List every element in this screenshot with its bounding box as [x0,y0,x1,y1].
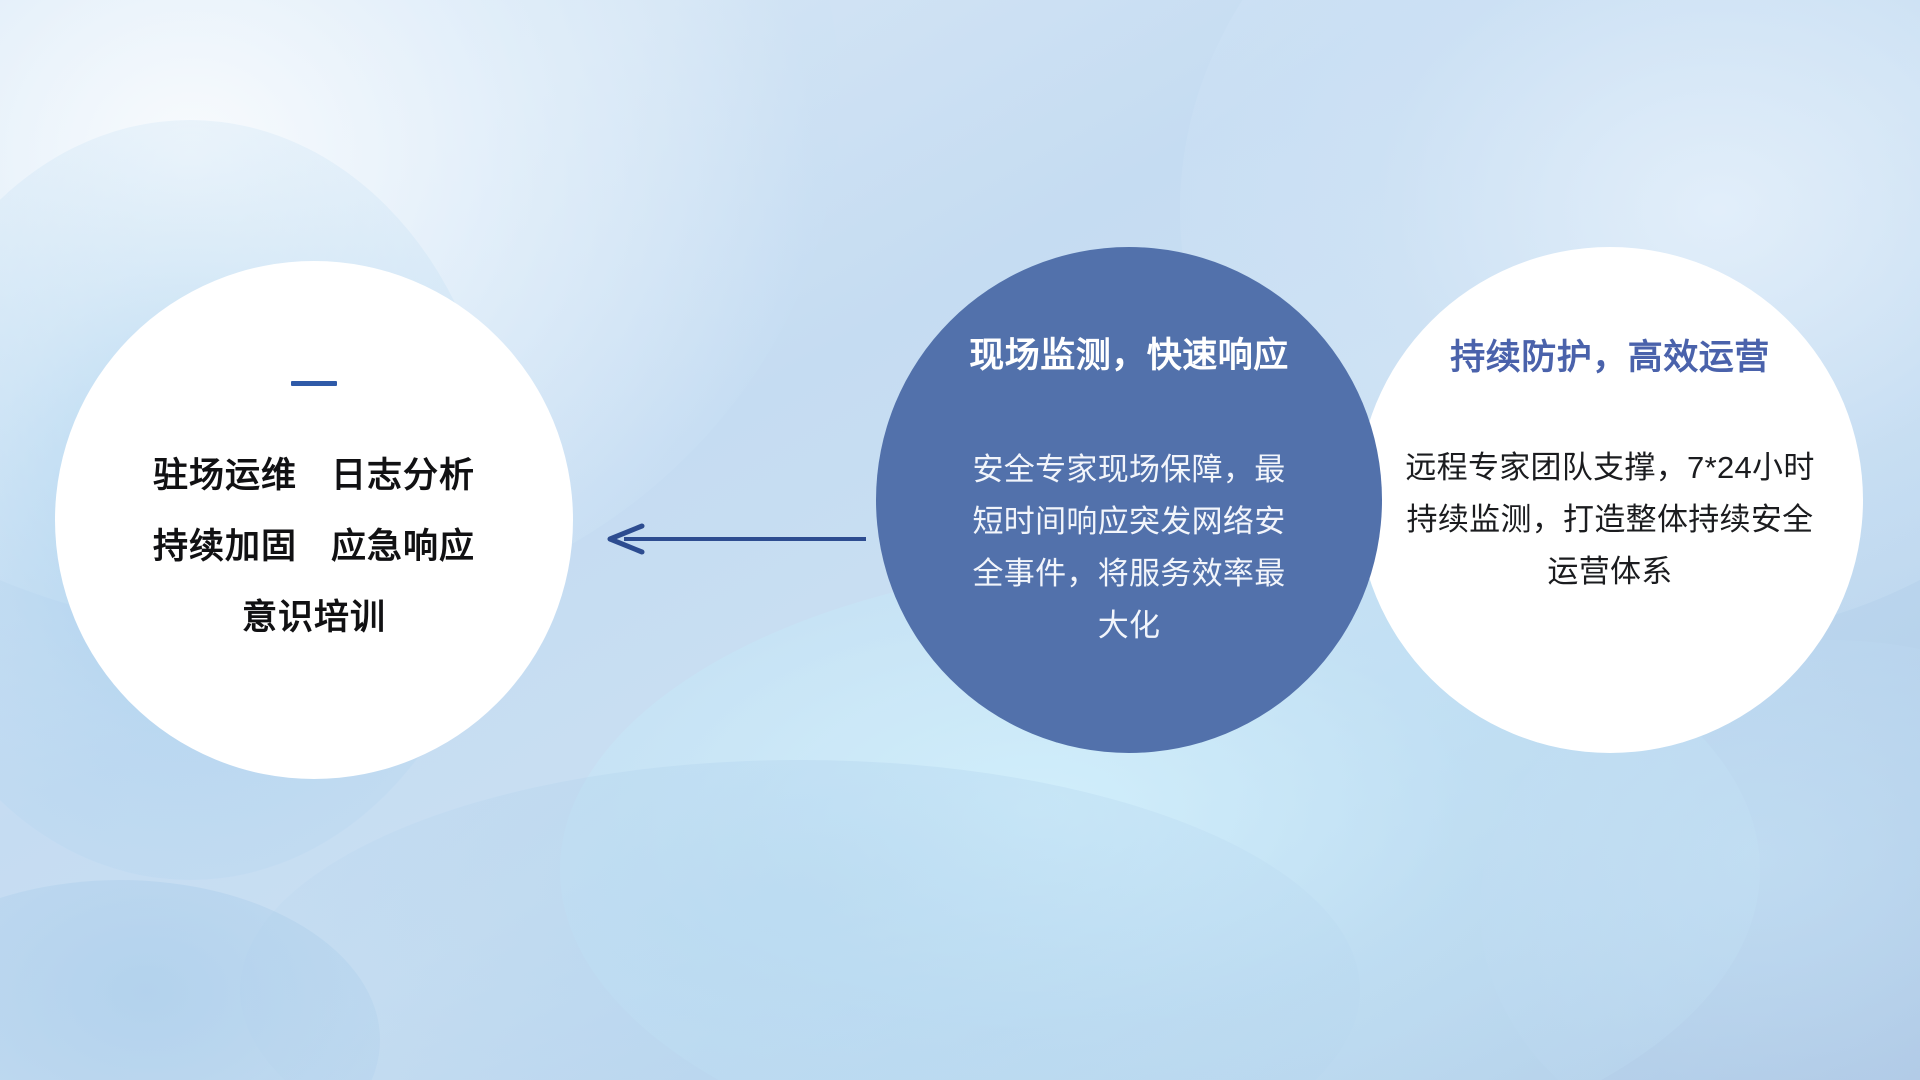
onsite-monitoring-circle: 现场监测，快速响应 安全专家现场保障，最短时间响应突发网络安全事件，将服务效率最… [876,247,1382,753]
continuous-protection-circle: 持续防护，高效运营 远程专家团队支撑，7*24小时持续监测，打造整体持续安全运营… [1357,247,1863,753]
keyword-list: 驻场运维日志分析 持续加固应急响应 意识培训 [153,440,475,653]
keyword-row: 驻场运维日志分析 [153,440,475,511]
continuous-protection-title: 持续防护，高效运营 [1450,329,1770,380]
background-bloom-bottom [240,760,1360,1080]
onsite-monitoring-description: 安全专家现场保障，最短时间响应突发网络安全事件，将服务效率最大化 [964,444,1294,652]
arrow-left-icon [598,522,868,556]
continuous-protection-description: 远程专家团队支撑，7*24小时持续监测，打造整体持续安全运营体系 [1400,442,1820,598]
horizontal-dash-icon [291,381,337,386]
keyword-item: 日志分析 [331,456,475,495]
keyword-row: 意识培训 [153,582,475,653]
keyword-row: 持续加固应急响应 [153,511,475,582]
keyword-item: 意识培训 [242,598,386,637]
keyword-item: 持续加固 [153,527,297,566]
background-bloom-bottom-left [0,880,380,1080]
slide-canvas: 驻场运维日志分析 持续加固应急响应 意识培训 现场监测，快速响应 安全专家现场保… [0,0,1920,1080]
keyword-item: 驻场运维 [153,456,297,495]
onsite-monitoring-title: 现场监测，快速响应 [969,327,1289,378]
connector-arrow [598,522,868,556]
keyword-item: 应急响应 [331,527,475,566]
capability-keywords-circle: 驻场运维日志分析 持续加固应急响应 意识培训 [55,261,573,779]
